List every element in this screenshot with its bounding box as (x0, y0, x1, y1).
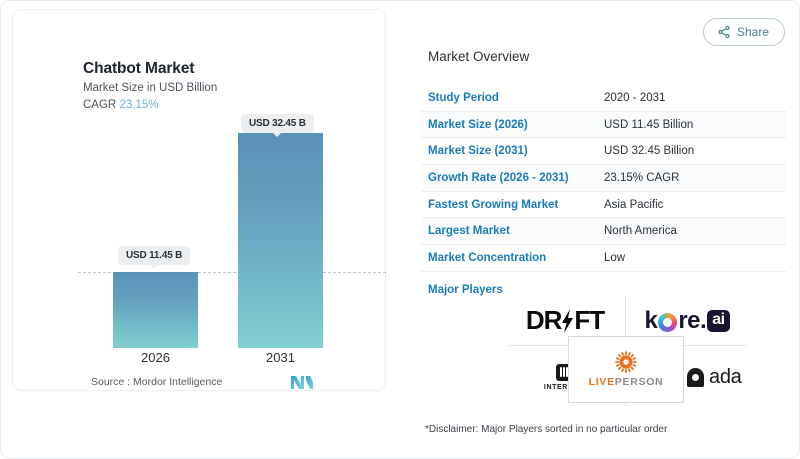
bar-2031 (238, 133, 323, 348)
row-value: Asia Pacific (604, 199, 663, 211)
table-row: Market Size (2026) USD 11.45 Billion (421, 112, 786, 139)
gradient-ring-icon (658, 313, 677, 332)
row-value: North America (604, 225, 677, 237)
logo-cell-ada: ada (687, 351, 747, 403)
row-value: USD 11.45 Billion (604, 119, 693, 131)
ada-logo: ada (687, 366, 741, 389)
row-label: Market Size (2026) (428, 119, 604, 131)
chart-card: Chatbot Market Market Size in USD Billio… (12, 9, 386, 391)
lightning-bolt-icon (561, 308, 574, 334)
liveperson-text-live: LIVE (589, 376, 615, 388)
kore-ai-badge: ai (707, 310, 729, 332)
table-row: Largest Market North America (421, 218, 786, 245)
bar-value-label-2026: USD 11.45 B (118, 246, 190, 265)
share-button-label: Share (737, 25, 769, 39)
logo-cell-liveperson: LIVEPERSON (568, 336, 684, 403)
share-nodes-icon (717, 25, 731, 39)
kore-middle: re. (678, 307, 706, 335)
row-label: Market Concentration (428, 252, 604, 264)
row-label: Fastest Growing Market (428, 199, 604, 211)
gear-icon (615, 351, 637, 373)
row-label: Study Period (428, 92, 604, 104)
chart-subtitle: Market Size in USD Billion (83, 82, 217, 94)
market-overview-table: Study Period 2020 - 2031 Market Size (20… (421, 85, 786, 272)
share-button[interactable]: Share (703, 18, 785, 46)
table-row: Fastest Growing Market Asia Pacific (421, 192, 786, 219)
table-row: Market Size (2031) USD 32.45 Billion (421, 138, 786, 165)
x-axis-tick-2026: 2026 (113, 350, 198, 365)
table-row: Market Concentration Low (421, 245, 786, 272)
drift-logo: DR FT (526, 305, 604, 336)
disclaimer-text: *Disclaimer: Major Players sorted in no … (425, 424, 667, 435)
row-value: USD 32.45 Billion (604, 145, 694, 157)
row-label: Largest Market (428, 225, 604, 237)
major-players-label: Major Players (428, 284, 503, 296)
x-axis-tick-2031: 2031 (238, 350, 323, 365)
drift-text-right: FT (574, 305, 604, 336)
market-overview-title: Market Overview (428, 49, 529, 64)
bar-value-label-2031: USD 32.45 B (241, 114, 314, 133)
cagr-value: 23.15% (119, 99, 158, 111)
liveperson-text-person: PERSON (615, 376, 664, 388)
table-row: Study Period 2020 - 2031 (421, 85, 786, 112)
major-players-logo-grid: DR FT k re. ai INTERCO (507, 296, 747, 406)
kore-ai-logo: k re. ai (644, 307, 729, 335)
ada-mark-icon (687, 368, 704, 387)
kore-prefix: k (644, 307, 657, 335)
mordor-intelligence-logo-icon (289, 374, 315, 390)
row-label: Market Size (2031) (428, 145, 604, 157)
market-report-canvas: Chatbot Market Market Size in USD Billio… (0, 0, 800, 459)
cagr-label: CAGR (83, 99, 116, 111)
row-value: Low (604, 252, 625, 264)
table-row: Growth Rate (2026 - 2031) 23.15% CAGR (421, 165, 786, 192)
drift-text-left: DR (526, 305, 562, 336)
row-label: Growth Rate (2026 - 2031) (428, 172, 604, 184)
row-value: 2020 - 2031 (604, 92, 665, 104)
chart-title: Chatbot Market (83, 60, 194, 78)
ada-wordmark: ada (709, 366, 741, 389)
liveperson-wordmark: LIVEPERSON (589, 376, 664, 388)
source-text: Source : Mordor Intelligence (91, 376, 222, 388)
bar-2026 (113, 272, 198, 348)
row-value: 23.15% CAGR (604, 172, 679, 184)
chart-cagr: CAGR 23.15% (83, 99, 158, 111)
